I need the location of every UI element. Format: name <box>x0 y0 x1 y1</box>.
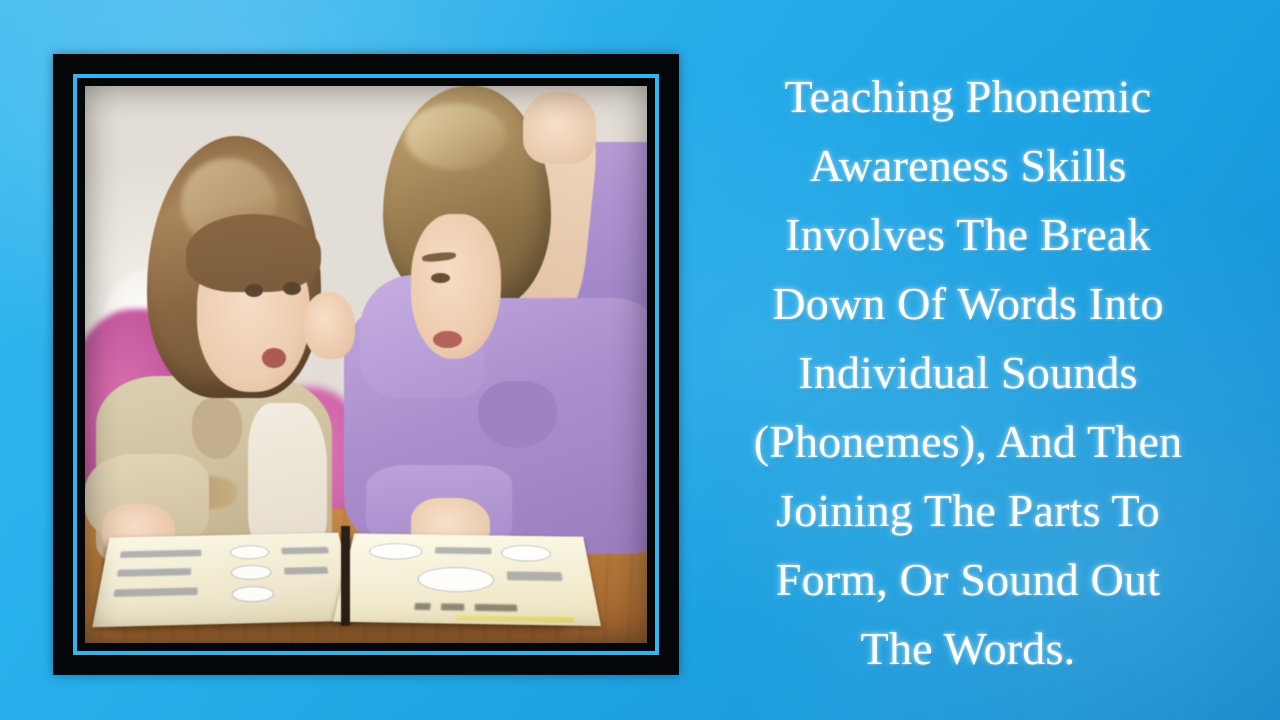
photo-woman-hair-highlight <box>405 103 506 170</box>
caption-line: Form, Or Sound Out <box>690 545 1246 614</box>
photo-frame-inner-mat <box>85 86 647 643</box>
caption-line: Down Of Words Into <box>690 269 1246 338</box>
photo-book-right-page <box>333 534 601 627</box>
photo-woman-mouth <box>433 331 461 348</box>
photo-girl-left-eye <box>245 284 263 297</box>
photo-girl-shirt-neckline <box>192 398 243 459</box>
photo-book-left-page <box>92 533 360 628</box>
caption-line: The Words. <box>690 614 1246 683</box>
photo-girl-fringe <box>186 214 321 292</box>
caption-line: Teaching Phonemic <box>690 62 1246 131</box>
caption-line: Joining The Parts To <box>690 476 1246 545</box>
caption-line: (Phonemes), And Then <box>690 407 1246 476</box>
photo-frame <box>53 54 679 675</box>
photo-woman-eye <box>431 273 450 284</box>
slide-canvas: Teaching Phonemic Awareness Skills Invol… <box>0 0 1280 720</box>
photo-image <box>85 86 647 643</box>
caption-line: Involves The Break <box>690 200 1246 269</box>
caption-text-block: Teaching Phonemic Awareness Skills Invol… <box>690 62 1246 683</box>
photo-book-spine <box>341 526 350 626</box>
photo-woman-hand-on-head <box>523 92 596 164</box>
caption-line: Individual Sounds <box>690 338 1246 407</box>
photo-woman-collar <box>478 381 557 448</box>
photo-girl-mouth <box>262 348 286 368</box>
caption-line: Awareness Skills <box>690 131 1246 200</box>
photo-girl-hand-on-cheek <box>304 292 355 359</box>
